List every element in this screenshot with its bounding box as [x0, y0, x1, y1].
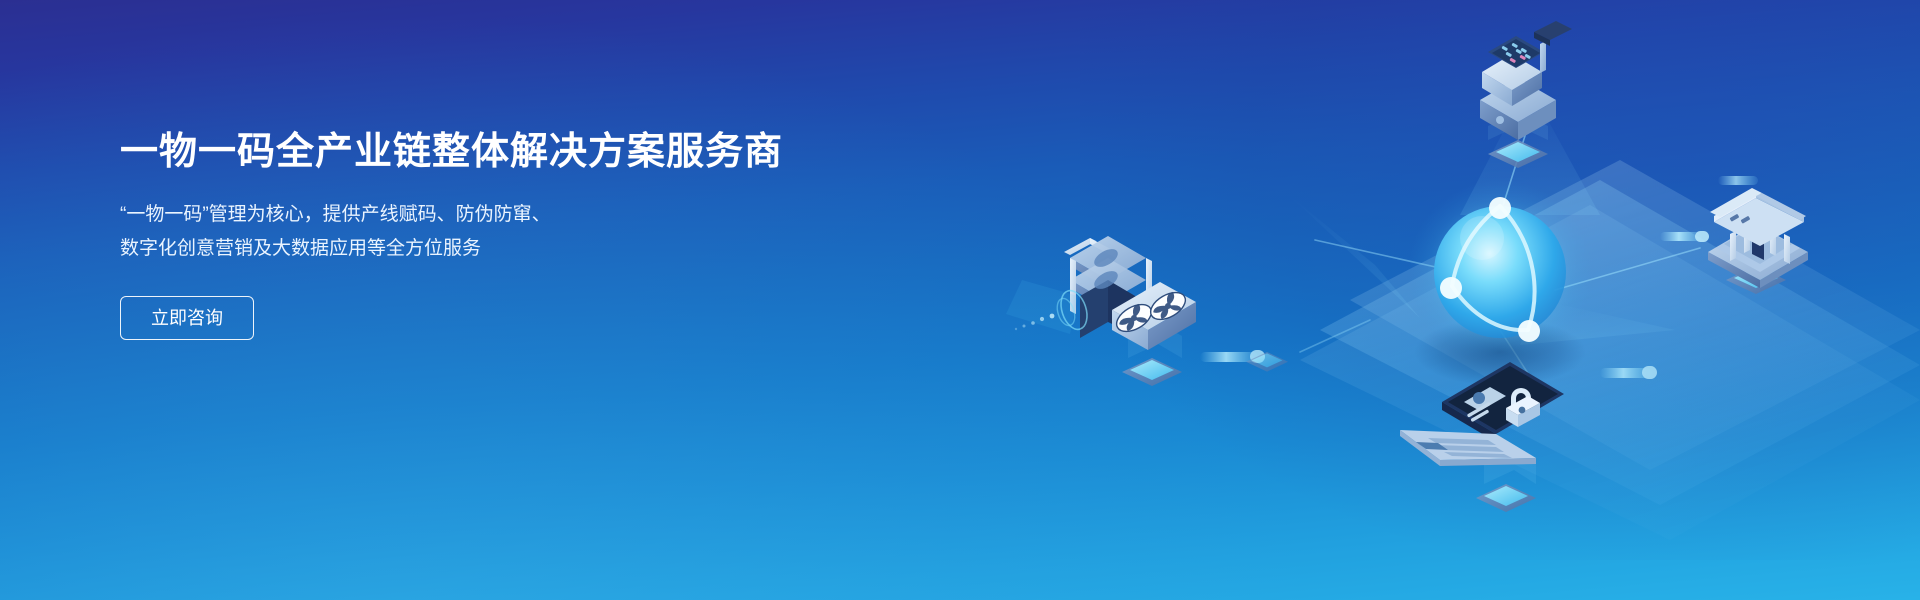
hero-illustration [900, 0, 1920, 600]
hero-subtitle-line-2: 数字化创意营销及大数据应用等全方位服务 [120, 232, 665, 266]
data-packet [1660, 231, 1709, 242]
node-pad [1476, 484, 1536, 512]
hero-subtitle: “一物一码”管理为核心，提供产线赋码、防伪防窜、 数字化创意营销及大数据应用等全… [120, 198, 665, 266]
hero-copy-block: 一物一码全产业链整体解决方案服务商 “一物一码”管理为核心，提供产线赋码、防伪防… [120, 128, 880, 340]
data-packet [1718, 176, 1758, 185]
consult-now-button[interactable]: 立即咨询 [120, 296, 254, 340]
hero-subtitle-line-1: “一物一码”管理为核心，提供产线赋码、防伪防窜、 [120, 198, 665, 232]
node-pad [1122, 358, 1182, 386]
page-title: 一物一码全产业链整体解决方案服务商 [120, 128, 880, 176]
server-rack-icon [1006, 236, 1196, 386]
hero-banner: 一物一码全产业链整体解决方案服务商 “一物一码”管理为核心，提供产线赋码、防伪防… [0, 0, 1920, 600]
isometric-platform [1300, 160, 1920, 540]
network-globe-icon [1408, 180, 1592, 364]
